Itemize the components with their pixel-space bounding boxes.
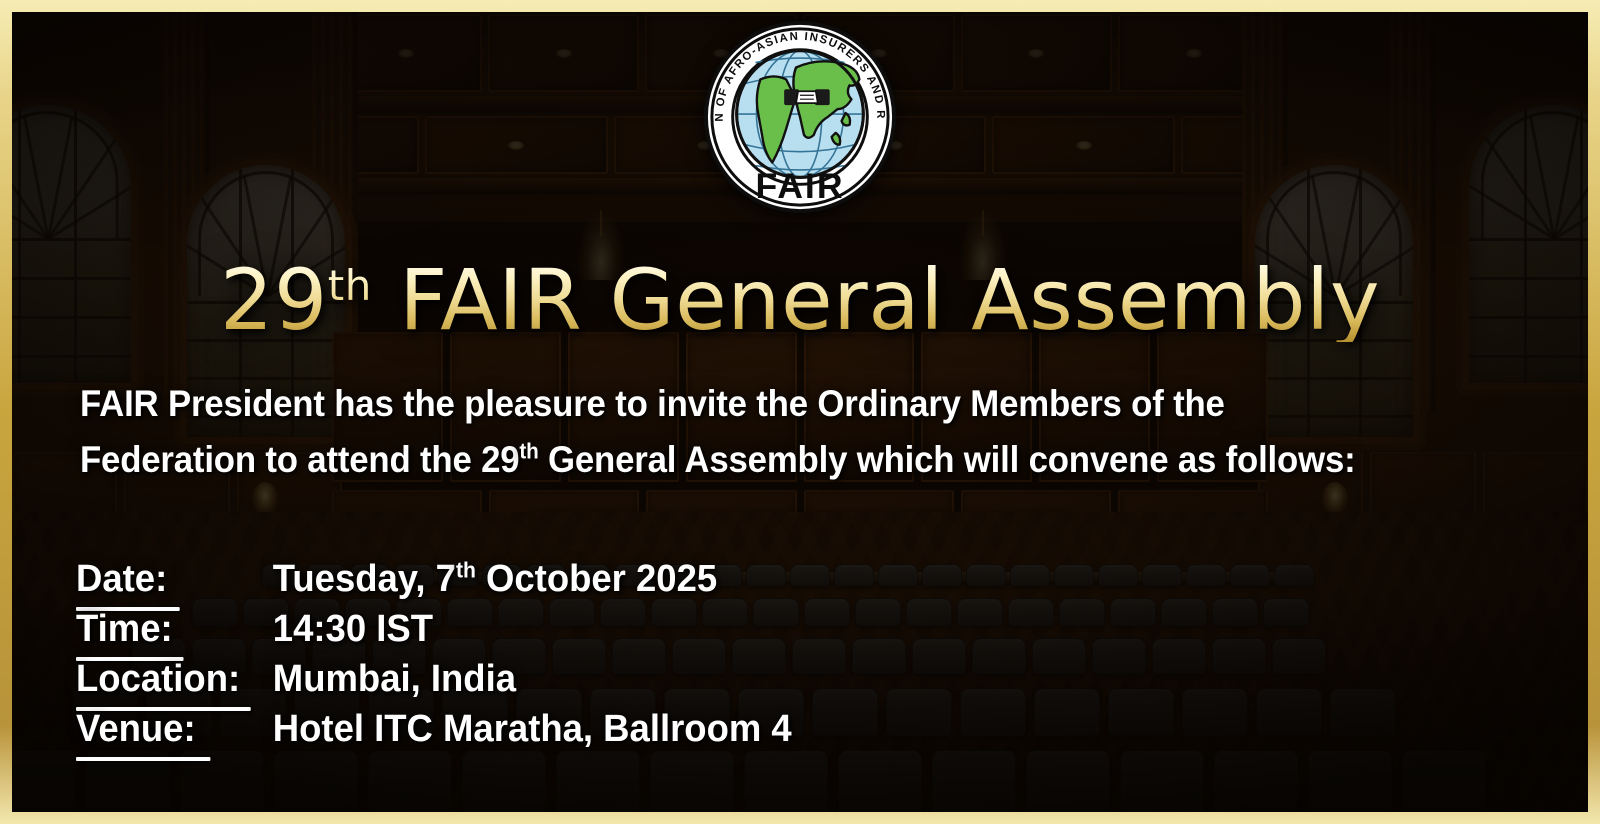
detail-label-location: Location:: [76, 658, 273, 701]
poster-content: FEDERATION OF AFRO-ASIAN INSURERS AND RE…: [12, 12, 1588, 812]
paragraph-part2: General Assembly which will convene as f…: [539, 439, 1356, 480]
detail-row-location: Location: Mumbai, India: [76, 658, 1132, 708]
detail-label-text: Time:: [76, 608, 173, 650]
detail-label-text: Location:: [76, 658, 240, 700]
detail-label-text: Venue:: [76, 708, 196, 750]
detail-row-date: Date: Tuesday, 7th October 2025: [76, 558, 1132, 608]
paragraph-ordinal-suffix: th: [519, 439, 538, 464]
logo-acronym: FAIR: [755, 166, 844, 206]
fair-logo-icon: FEDERATION OF AFRO-ASIAN INSURERS AND RE…: [701, 18, 899, 216]
detail-label-date: Date:: [76, 558, 273, 601]
detail-label-text: Date:: [76, 558, 167, 600]
paragraph-ordinal-number: 29: [481, 439, 519, 480]
title-rest: FAIR General Assembly: [372, 251, 1380, 349]
title-ordinal-suffix: th: [328, 261, 372, 310]
poster-inner-frame: FEDERATION OF AFRO-ASIAN INSURERS AND RE…: [12, 12, 1588, 812]
invitation-poster: FEDERATION OF AFRO-ASIAN INSURERS AND RE…: [0, 0, 1600, 824]
detail-value-superscript: th: [456, 557, 476, 582]
detail-value-prefix: 14:30 IST: [273, 608, 433, 650]
detail-row-venue: Venue: Hotel ITC Maratha, Ballroom 4: [76, 708, 1132, 758]
detail-label-venue: Venue:: [76, 708, 273, 751]
detail-value-prefix: Tuesday, 7: [273, 558, 456, 600]
page-title: 29th FAIR General Assembly: [12, 258, 1588, 342]
detail-row-time: Time: 14:30 IST: [76, 608, 1132, 658]
detail-value-location: Mumbai, India: [273, 658, 516, 701]
detail-value-time: 14:30 IST: [273, 608, 433, 651]
detail-value-venue: Hotel ITC Maratha, Ballroom 4: [273, 708, 792, 751]
detail-label-time: Time:: [76, 608, 273, 651]
detail-value-suffix: October 2025: [476, 558, 717, 600]
detail-value-date: Tuesday, 7th October 2025: [273, 558, 717, 601]
invitation-paragraph: FAIR President has the pleasure to invit…: [80, 376, 1382, 488]
detail-value-prefix: Hotel ITC Maratha, Ballroom 4: [273, 708, 792, 750]
detail-label-underline: [76, 757, 210, 761]
title-ordinal-number: 29: [220, 251, 328, 349]
detail-value-prefix: Mumbai, India: [273, 658, 516, 700]
event-details-list: Date: Tuesday, 7th October 2025 Time: 14…: [76, 558, 1132, 758]
